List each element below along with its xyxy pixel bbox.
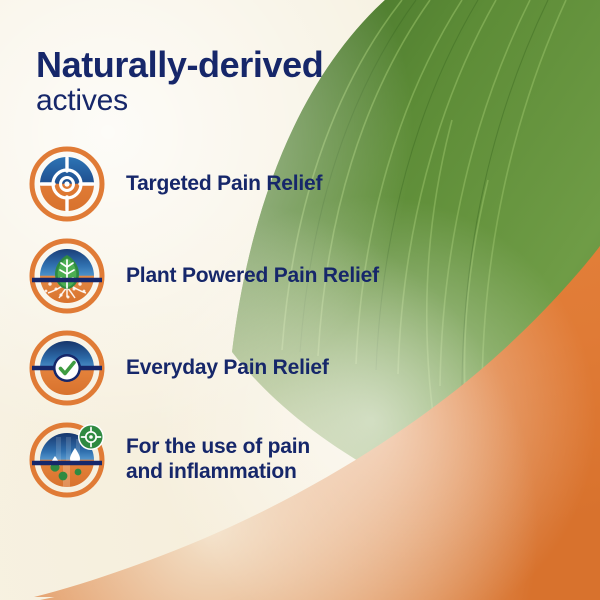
- feature-label-line1: Plant Powered Pain Relief: [126, 264, 379, 287]
- feature-label: Everyday Pain Relief: [126, 356, 329, 381]
- feature-label-line1: For the use of pain: [126, 435, 310, 458]
- feature-label: Plant Powered Pain Relief: [126, 264, 379, 289]
- headline-main: Naturally-derived: [36, 46, 436, 83]
- list-item: For the use of pain and inflammation: [30, 422, 450, 498]
- page-title: Naturally-derived actives: [36, 46, 436, 117]
- feature-label: For the use of pain and inflammation: [126, 435, 310, 485]
- feature-label: Targeted Pain Relief: [126, 172, 322, 197]
- green-target-badge: [78, 424, 104, 450]
- target-crosshair-icon: [30, 147, 104, 221]
- list-item: Everyday Pain Relief: [30, 330, 450, 406]
- list-item: Plant Powered Pain Relief: [30, 238, 450, 314]
- plant-roots-icon: [30, 239, 104, 313]
- feature-label-line2: and inflammation: [126, 460, 310, 485]
- feature-label-line1: Targeted Pain Relief: [126, 172, 322, 195]
- droplet-inflammation-icon: [30, 423, 104, 497]
- headline-sub: actives: [36, 85, 436, 116]
- feature-label-line1: Everyday Pain Relief: [126, 356, 329, 379]
- checkmark-circle-icon: [30, 331, 104, 405]
- feature-list: Targeted Pain Relief: [30, 146, 450, 514]
- infographic-canvas: Naturally-derived actives: [0, 0, 600, 600]
- list-item: Targeted Pain Relief: [30, 146, 450, 222]
